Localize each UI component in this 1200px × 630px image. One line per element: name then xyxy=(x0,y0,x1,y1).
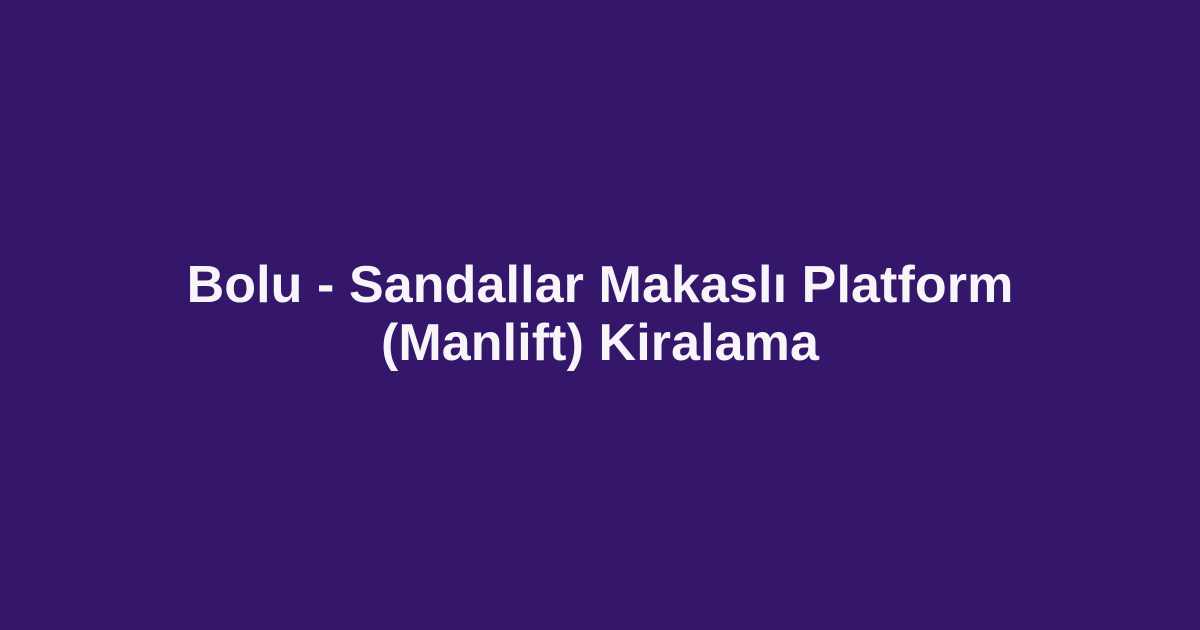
card-content: Bolu - Sandallar Makaslı Platform (Manli… xyxy=(0,256,1200,372)
page-title: Bolu - Sandallar Makaslı Platform (Manli… xyxy=(88,256,1112,372)
share-card: Bolu - Sandallar Makaslı Platform (Manli… xyxy=(0,0,1200,630)
